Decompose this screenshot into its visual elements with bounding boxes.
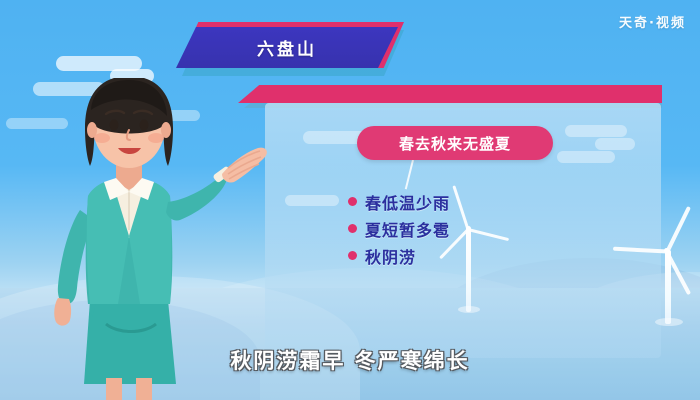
bullet-dot-icon: [348, 251, 357, 260]
turbine-right-base: [655, 318, 683, 326]
video-frame: 六盘山 春去秋来无盛夏 春低温少雨 夏短暂多雹 秋阴涝: [0, 0, 700, 400]
presenter-cheek-left: [94, 133, 110, 143]
presenter-eye-right: [140, 120, 149, 131]
presenter-leg-left: [106, 378, 122, 400]
list-item: 夏短暂多雹: [348, 215, 450, 242]
panel-cloud-3: [595, 138, 635, 150]
bullet-list: 春低温少雨 夏短暂多雹 秋阴涝: [348, 188, 450, 269]
list-item: 春低温少雨: [348, 188, 450, 215]
subtitle-caption: 秋阴涝霜早 冬严寒绵长: [0, 345, 700, 375]
title-banner: 六盘山: [176, 22, 404, 78]
turbine-left-base: [458, 306, 480, 313]
panel-cloud-2: [565, 125, 627, 137]
bullet-label: 夏短暂多雹: [365, 217, 450, 241]
channel-watermark: 天奇·视频: [619, 12, 686, 31]
presenter-left-hand: [54, 298, 71, 326]
turbine-left-tower: [466, 228, 471, 312]
presenter-eye-left: [110, 120, 119, 131]
title-banner-body: 六盘山: [176, 27, 398, 68]
presenter-jacket-hem: [92, 304, 166, 318]
bullet-label: 春低温少雨: [365, 190, 450, 214]
presenter-right-sleeve: [166, 175, 227, 220]
panel-cloud-5: [285, 195, 339, 206]
panel-accent-bar: [238, 85, 662, 103]
headline-pill: 春去秋来无盛夏: [357, 126, 553, 160]
bullet-dot-icon: [348, 224, 357, 233]
headline-text: 春去秋来无盛夏: [399, 133, 511, 154]
banner-title-text: 六盘山: [257, 35, 317, 60]
panel-cloud-4: [557, 151, 615, 163]
list-item: 秋阴涝: [348, 242, 450, 269]
bullet-dot-icon: [348, 197, 357, 206]
presenter-leg-right: [136, 378, 152, 400]
presenter-right-hand: [222, 148, 267, 183]
presenter-cheek-right: [148, 133, 164, 143]
bullet-label: 秋阴涝: [365, 244, 416, 268]
